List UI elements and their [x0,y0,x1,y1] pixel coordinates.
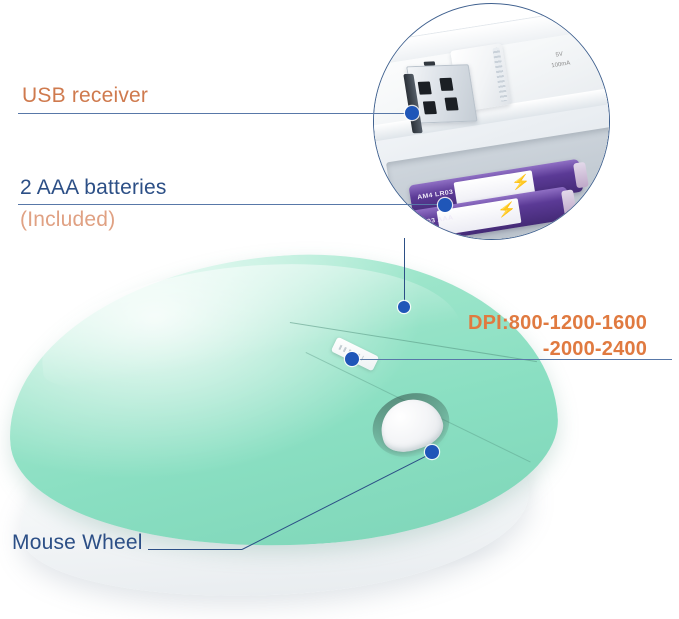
marker-dot-usb [405,106,419,120]
callout-mouse-wheel: Mouse Wheel [12,531,143,555]
dpi-line-2: -2000-2400 [468,336,647,362]
product-callout-diagram: Topmate MX-M9000Rating:3V --- 10mAThis d… [0,0,679,619]
callout-included: (Included) [20,208,115,232]
usb-contact-slot [444,97,458,110]
usb-contact-slot [418,81,432,94]
leader-line-batteries [18,204,445,205]
callout-usb-receiver: USB receiver [22,84,148,108]
usb-contact-slot [423,101,437,114]
leader-line-wheel-horizontal [148,549,242,550]
battery-bolt-icon: ⚡ [497,200,517,219]
leader-line-usb [18,113,412,114]
marker-dot-battery [438,198,452,212]
battery-bolt-icon: ⚡ [511,173,531,192]
warning-triangle-icon [552,41,563,50]
usb-contact-slot [439,78,453,91]
leader-line-inset-drop [404,238,405,307]
marker-dot-inset-link [398,301,410,313]
marker-dot-wheel [425,445,439,459]
usb-notch [424,61,436,65]
callout-dpi: DPI:800-1200-1600 -2000-2400 [468,310,647,363]
marker-dot-dpi-button [345,352,359,366]
dpi-line-1: DPI:800-1200-1600 [468,310,647,336]
callout-aaa-batteries: 2 AAA batteries [20,176,167,200]
